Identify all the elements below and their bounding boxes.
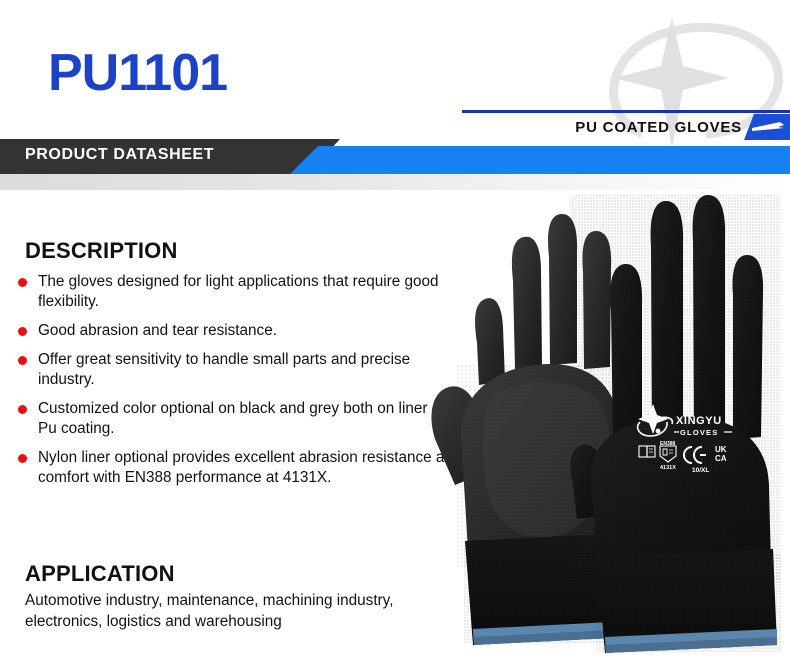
- description-bullet-list: The gloves designed for light applicatio…: [18, 272, 466, 497]
- product-code: PU1101: [48, 40, 227, 106]
- application-heading: APPLICATION: [25, 561, 175, 587]
- accent-blue-bar: [290, 146, 790, 174]
- list-item-text: Nylon liner optional provides excellent …: [38, 449, 461, 486]
- list-item: The gloves designed for light applicatio…: [18, 272, 466, 312]
- glove-right-back: [570, 195, 781, 653]
- page-header: PU1101 PU COATED GLOVES PRODUCT DATASHEE…: [0, 0, 790, 190]
- list-item-text: Good abrasion and tear resistance.: [38, 322, 277, 339]
- list-item: Customized color optional on black and g…: [18, 399, 466, 439]
- list-item: Good abrasion and tear resistance.: [18, 321, 466, 341]
- datasheet-label: PRODUCT DATASHEET: [25, 146, 214, 164]
- bullet-dot-icon: [18, 454, 27, 463]
- category-rule: [462, 110, 790, 113]
- list-item: Nylon liner optional provides excellent …: [18, 448, 466, 488]
- list-item: Offer great sensitivity to handle small …: [18, 350, 466, 390]
- description-heading: DESCRIPTION: [25, 238, 178, 264]
- product-image-gloves: [425, 185, 790, 662]
- bullet-dot-icon: [18, 356, 27, 365]
- application-text: Automotive industry, maintenance, machin…: [25, 590, 475, 632]
- bullet-dot-icon: [18, 405, 27, 414]
- bullet-dot-icon: [18, 327, 27, 336]
- list-item-text: The gloves designed for light applicatio…: [38, 273, 439, 310]
- list-item-text: Offer great sensitivity to handle small …: [38, 351, 410, 388]
- bullet-dot-icon: [18, 278, 27, 287]
- list-item-text: Customized color optional on black and g…: [38, 400, 457, 437]
- category-label: PU COATED GLOVES: [462, 116, 742, 140]
